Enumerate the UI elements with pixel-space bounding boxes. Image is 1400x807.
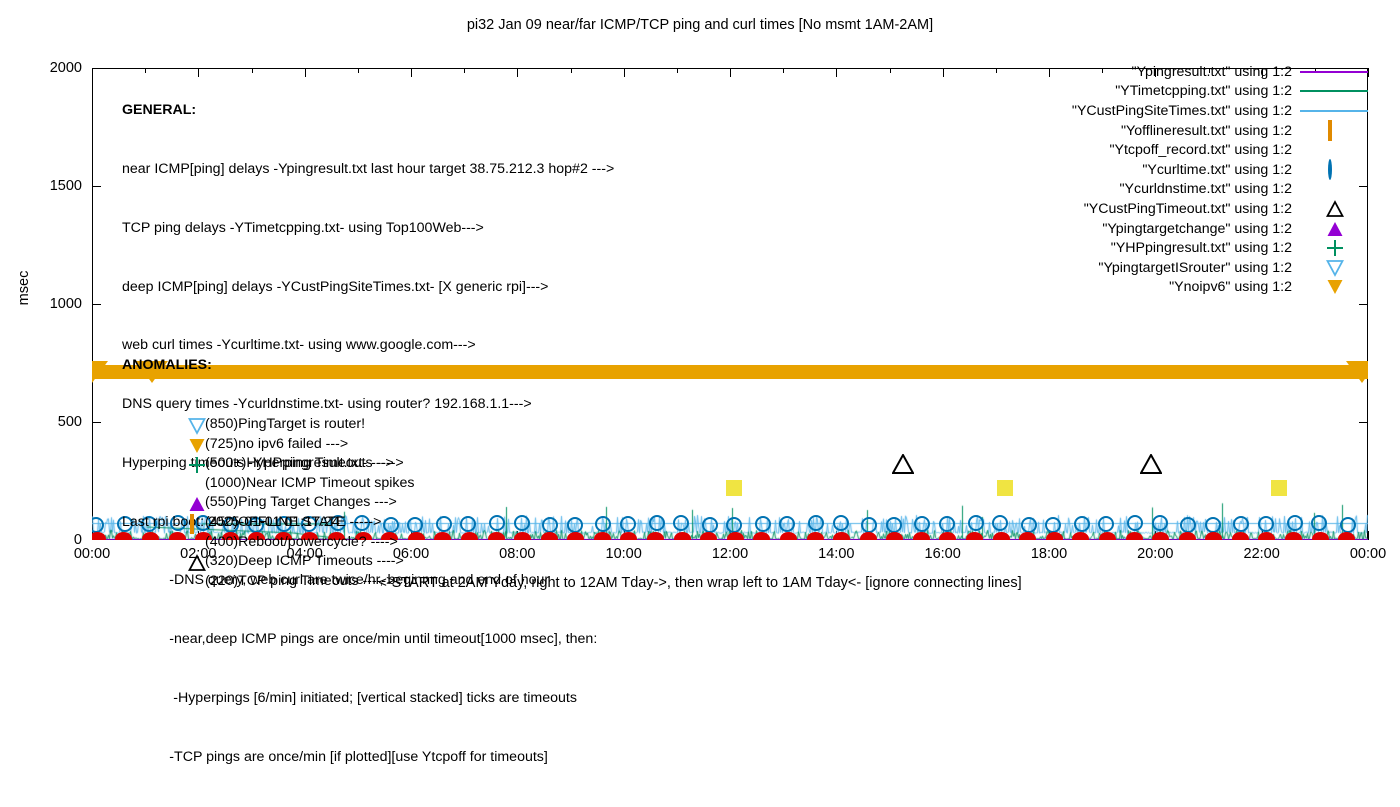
legend-label: "YTimetcpping.txt" using 1:2 — [1115, 83, 1292, 99]
legend-item[interactable]: "YpingtargetISrouter" using 1:2 — [960, 258, 1370, 278]
anomaly-row: (850)PingTarget is router! — [122, 415, 414, 435]
anomaly-marker — [188, 417, 205, 433]
plus-icon — [1326, 239, 1344, 257]
general-line: TCP ping delays -YTimetcpping.txt- using… — [122, 219, 614, 239]
anomaly-label: (500+)Hyperping Timeouts ----> — [205, 455, 404, 471]
open-triangle-down-icon — [188, 417, 205, 435]
filled-circle-icon — [1326, 180, 1344, 198]
legend-item[interactable]: "Ypingresult.txt" using 1:2 — [960, 62, 1370, 82]
legend-symbol — [1298, 63, 1370, 81]
legend-label: "Ycurltime.txt" using 1:2 — [1142, 162, 1292, 178]
open-triangle-down-icon — [1326, 259, 1344, 277]
legend-symbol — [1298, 180, 1370, 198]
x-tick-label: 00:00 — [52, 546, 132, 562]
legend-item[interactable]: "YCustPingTimeout.txt" using 1:2 — [960, 199, 1370, 219]
anomaly-row: (320)Deep ICMP Timeouts ----> — [122, 552, 414, 572]
legend-label: "YCustPingTimeout.txt" using 1:2 — [1084, 201, 1292, 217]
general-line: deep ICMP[ping] delays -YCustPingSiteTim… — [122, 278, 614, 298]
anomaly-label: (1000)Near ICMP Timeout spikes — [205, 475, 414, 491]
y-tick-1500: 1500 — [22, 178, 82, 194]
anomaly-row: (550)Ping Target Changes ---> — [122, 493, 414, 513]
legend-item[interactable]: "YCustPingSiteTimes.txt" using 1:2 — [960, 101, 1370, 121]
curltime-marker — [833, 515, 849, 531]
y-tick-500: 500 — [22, 414, 82, 430]
anomaly-marker — [188, 554, 205, 570]
anomaly-label: (320)Deep ICMP Timeouts ----> — [205, 553, 404, 569]
legend-label: "Ypingresult.txt" using 1:2 — [1132, 64, 1292, 80]
anomaly-marker — [188, 574, 205, 590]
x-tick-label: 22:00 — [1222, 546, 1302, 562]
open-triangle-up-icon — [188, 554, 205, 572]
curldns-marker — [1312, 532, 1329, 540]
legend-item[interactable]: "Ypingtargetchange" using 1:2 — [960, 219, 1370, 239]
anomaly-row: (500+)Hyperping Timeouts ----> — [122, 454, 414, 474]
legend-symbol — [1298, 102, 1370, 120]
filled-triangle-up-icon — [1326, 220, 1344, 238]
legend-label: "Ynoipv6" using 1:2 — [1169, 279, 1292, 295]
curltime-marker — [1205, 517, 1221, 533]
curldns-marker — [860, 532, 877, 540]
legend-symbol — [1298, 141, 1370, 159]
legend-symbol — [1298, 239, 1370, 257]
legend-label: "Ycurldnstime.txt" using 1:2 — [1119, 181, 1292, 197]
anomaly-label: (550)Ping Target Changes ---> — [205, 494, 397, 510]
deep-icmp-timeout-marker — [892, 454, 914, 479]
curldns-marker — [1126, 532, 1143, 540]
anomaly-row: (220)TCP ping Timeouts -----> — [122, 572, 414, 592]
legend-item[interactable]: "Ycurldnstime.txt" using 1:2 — [960, 180, 1370, 200]
general-line: -near,deep ICMP pings are once/min until… — [122, 630, 614, 650]
filled-triangle-down-icon — [1326, 278, 1344, 296]
anomaly-marker — [188, 515, 205, 531]
chart-legend: "Ypingresult.txt" using 1:2"YTimetcpping… — [960, 62, 1370, 297]
x-tick-label: 12:00 — [690, 546, 770, 562]
anomaly-row: (725)no ipv6 failed ---> — [122, 435, 414, 455]
tcpoff-marker — [1271, 480, 1287, 496]
anomalies-heading: ANOMALIES: — [122, 356, 414, 376]
curldns-marker — [993, 532, 1010, 540]
anomalies-notes: ANOMALIES: (850)PingTarget is router!(72… — [122, 317, 414, 631]
chart-canvas: pi32 Jan 09 near/far ICMP/TCP ping and c… — [0, 0, 1400, 600]
anomaly-marker — [188, 495, 205, 511]
anomaly-marker — [188, 535, 205, 551]
x-tick-label: 14:00 — [796, 546, 876, 562]
legend-label: "YHPpingresult.txt" using 1:2 — [1111, 240, 1292, 256]
legend-item[interactable]: "YHPpingresult.txt" using 1:2 — [960, 238, 1370, 258]
open-triangle-up-icon — [1326, 200, 1344, 218]
anomaly-row: (400)Reboot/powercycle? ----> — [122, 533, 414, 553]
open-square-icon — [188, 516, 196, 532]
anomaly-label: (400)Reboot/powercycle? ----> — [205, 534, 398, 550]
legend-item[interactable]: "Yofflineresult.txt" using 1:2 — [960, 121, 1370, 141]
anomaly-row: (450)OFFLINE STATE -----> — [122, 513, 414, 533]
chart-title: pi32 Jan 09 near/far ICMP/TCP ping and c… — [0, 17, 1400, 33]
line-sample-icon — [1300, 71, 1368, 73]
curltime-marker — [1287, 515, 1303, 531]
x-tick-label: 16:00 — [903, 546, 983, 562]
legend-item[interactable]: "Ynoipv6" using 1:2 — [960, 278, 1370, 298]
open-square-icon — [1326, 122, 1344, 140]
y-tick-1000: 1000 — [22, 296, 82, 312]
y-axis-label: msec — [16, 248, 32, 328]
anomaly-marker — [188, 456, 205, 472]
line-sample-icon — [1300, 110, 1368, 112]
legend-symbol — [1298, 200, 1370, 218]
x-tick-label: 20:00 — [1115, 546, 1195, 562]
curltime-marker — [886, 517, 902, 533]
x-tickmark — [1368, 531, 1369, 540]
general-line: -TCP pings are once/min [if plotted][use… — [122, 748, 614, 768]
legend-label: "Ypingtargetchange" using 1:2 — [1102, 221, 1292, 237]
legend-symbol — [1298, 82, 1370, 100]
noipv6-marker — [92, 361, 108, 383]
legend-label: "YCustPingSiteTimes.txt" using 1:2 — [1072, 103, 1292, 119]
legend-symbol — [1298, 122, 1370, 140]
anomaly-label: (725)no ipv6 failed ---> — [205, 436, 348, 452]
curltime-marker — [968, 515, 984, 531]
y-tick-2000: 2000 — [22, 60, 82, 76]
anomaly-marker — [188, 476, 205, 492]
anomaly-label: (220)TCP ping Timeouts -----> — [205, 573, 394, 589]
legend-symbol — [1298, 220, 1370, 238]
legend-label: "Ytcpoff_record.txt" using 1:2 — [1109, 142, 1292, 158]
legend-label: "Yofflineresult.txt" using 1:2 — [1121, 123, 1292, 139]
legend-label: "YpingtargetISrouter" using 1:2 — [1098, 260, 1292, 276]
anomaly-label: (450)OFFLINE STATE -----> — [205, 514, 381, 530]
anomaly-row: (1000)Near ICMP Timeout spikes — [122, 474, 414, 494]
x-tick-label: 18:00 — [1009, 546, 1089, 562]
legend-symbol — [1298, 161, 1370, 179]
curldns-marker — [1179, 532, 1196, 540]
noipv6-marker — [1346, 361, 1368, 383]
general-line: -Hyperpings [6/min] initiated; [vertical… — [122, 689, 614, 709]
legend-item[interactable]: "Ytcpoff_record.txt" using 1:2 — [960, 140, 1370, 160]
curldns-marker — [674, 532, 691, 540]
tcpoff-marker — [726, 480, 742, 496]
filled-square-icon — [1326, 141, 1344, 159]
filled-square-icon — [188, 575, 192, 591]
legend-symbol — [1298, 278, 1370, 296]
x-tick-label: 00:00 — [1328, 546, 1400, 562]
curltime-marker — [1152, 515, 1168, 531]
line-sample-icon — [1300, 90, 1368, 92]
legend-item[interactable]: "Ycurltime.txt" using 1:2 — [960, 160, 1370, 180]
legend-item[interactable]: "YTimetcpping.txt" using 1:2 — [960, 82, 1370, 102]
legend-symbol — [1298, 259, 1370, 277]
anomaly-label: (850)PingTarget is router! — [205, 416, 365, 432]
curldns-marker — [807, 532, 824, 540]
general-line: near ICMP[ping] delays -Ypingresult.txt … — [122, 160, 614, 180]
curltime-marker — [649, 515, 665, 531]
anomaly-marker — [188, 437, 205, 453]
general-heading: GENERAL: — [122, 101, 614, 121]
tcpoff-marker — [997, 480, 1013, 496]
open-circle-icon — [1326, 161, 1344, 179]
deep-icmp-timeout-marker — [1140, 454, 1162, 479]
